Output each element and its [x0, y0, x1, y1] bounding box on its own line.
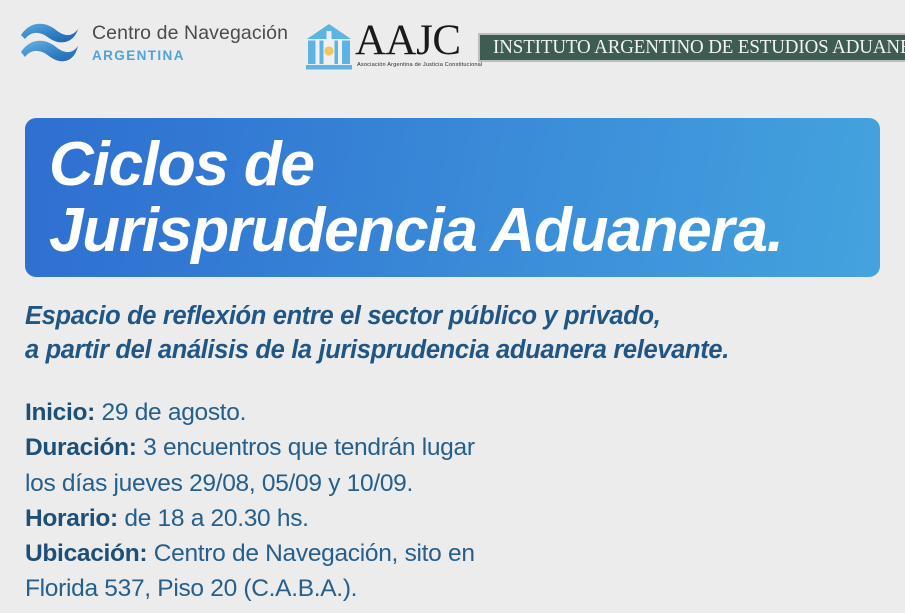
detail-value: 29 de agosto.	[95, 399, 246, 426]
detail-label: Ubicación:	[25, 540, 147, 567]
detail-value: de 18 a 20.30 hs.	[118, 505, 309, 532]
logo-centro-subtitle: ARGENTINA	[92, 49, 288, 63]
detail-line: Horario: de 18 a 20.30 hs.	[25, 501, 645, 536]
logo-instituto-name: INSTITUTO ARGENTINO DE ESTUDIOS ADUANERO…	[493, 37, 905, 59]
event-details-block: Inicio: 29 de agosto. Duración: 3 encuen…	[25, 395, 645, 607]
detail-value: Centro de Navegación, sito en	[147, 540, 474, 567]
title-banner: Ciclos de Jurisprudencia Aduanera.	[25, 118, 880, 277]
page-title-line-2: Jurisprudencia Aduanera.	[49, 198, 880, 264]
detail-line: Ubicación: Centro de Navegación, sito en	[25, 536, 645, 571]
logo-aajc[interactable]: AAJC Asociación Argentina de Justicia Co…	[305, 21, 482, 72]
logo-aajc-tagline: Asociación Argentina de Justicia Constit…	[357, 62, 482, 68]
subtitle-line-2: a partir del análisis de la jurisprudenc…	[25, 334, 885, 368]
page-title-line-1: Ciclos de	[49, 132, 880, 198]
detail-line: los días jueves 29/08, 05/09 y 10/09.	[25, 466, 645, 501]
logo-aajc-name: AAJC	[355, 21, 482, 61]
logo-aajc-text-block: AAJC Asociación Argentina de Justicia Co…	[355, 21, 482, 68]
detail-line: Inicio: 29 de agosto.	[25, 395, 645, 430]
detail-value: Florida 537, Piso 20 (C.A.B.A.).	[25, 575, 357, 602]
wave-mark-icon	[18, 19, 82, 69]
logo-centro-text-block: Centro de Navegación ARGENTINA	[92, 24, 288, 64]
courthouse-icon	[305, 22, 353, 72]
subtitle-line-1: Espacio de reflexión entre el sector púb…	[25, 300, 885, 334]
detail-label: Horario:	[25, 505, 118, 532]
detail-label: Inicio:	[25, 399, 95, 426]
header-logo-strip: Centro de Navegación ARGENTINA	[0, 0, 905, 92]
detail-value: los días jueves 29/08, 05/09 y 10/09.	[25, 470, 413, 497]
logo-centro-name: Centro de Navegación	[92, 24, 288, 44]
logo-centro-de-navegacion[interactable]: Centro de Navegación ARGENTINA	[18, 19, 288, 69]
detail-line: Duración: 3 encuentros que tendrán lugar	[25, 430, 645, 465]
detail-value: 3 encuentros que tendrán lugar	[137, 434, 475, 461]
event-poster: Centro de Navegación ARGENTINA	[0, 0, 905, 613]
logo-instituto-argentino-de-estudios-aduaneros[interactable]: INSTITUTO ARGENTINO DE ESTUDIOS ADUANERO…	[478, 33, 905, 62]
detail-label: Duración:	[25, 434, 137, 461]
detail-line: Florida 537, Piso 20 (C.A.B.A.).	[25, 571, 645, 606]
subtitle-block: Espacio de reflexión entre el sector púb…	[25, 300, 885, 367]
